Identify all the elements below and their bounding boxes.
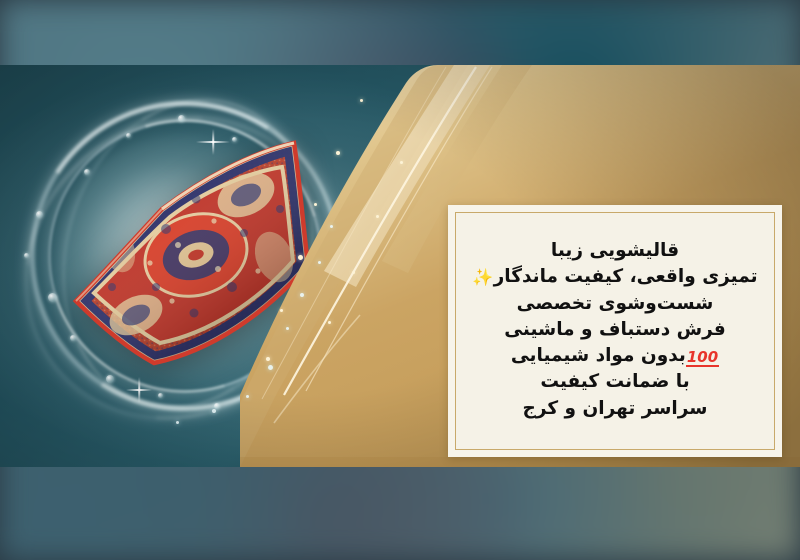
advertisement-banner: قالیشویی زیبا تمیزی واقعی، کیفیت ماندگار…: [0, 0, 800, 560]
water-droplet: [214, 403, 220, 409]
gold-speck: [314, 203, 317, 206]
water-droplet: [106, 375, 114, 383]
hundred-points-emoji: 100: [686, 350, 719, 367]
ad-line-guarantee-text: با ضمانت کیفیت: [540, 371, 689, 392]
gold-speck: [336, 151, 340, 155]
ad-line-headline: قالیشویی زیبا: [551, 238, 679, 264]
main-card: قالیشویی زیبا تمیزی واقعی، کیفیت ماندگار…: [0, 65, 800, 467]
gold-speck: [298, 255, 303, 260]
ad-line-chemicals: 100بدون مواد شیمیایی: [511, 343, 719, 369]
water-droplet: [158, 393, 163, 398]
ad-line-chemicals-text: بدون مواد شیمیایی: [511, 345, 686, 366]
gold-speck: [376, 215, 379, 218]
ad-line-tagline-text: تمیزی واقعی، کیفیت ماندگار: [494, 266, 758, 287]
water-droplet: [178, 115, 185, 122]
glitter-speck: [212, 409, 216, 413]
gold-speck: [328, 321, 331, 324]
glitter-speck: [286, 327, 289, 330]
ad-line-service: شست‌وشوی تخصصی: [517, 291, 714, 317]
ad-line-coverage: سراسر تهران و کرج: [523, 396, 708, 422]
gold-speck: [352, 271, 355, 274]
glitter-speck: [246, 395, 249, 398]
glitter-speck: [318, 261, 321, 264]
advertisement-text-box: قالیشویی زیبا تمیزی واقعی، کیفیت ماندگار…: [448, 205, 782, 457]
ad-line-guarantee: با ضمانت کیفیت: [540, 369, 689, 395]
sparkles-emoji: ✨: [472, 268, 493, 288]
glitter-speck: [300, 293, 304, 297]
gold-speck: [280, 309, 283, 312]
gold-speck: [360, 99, 363, 102]
ad-line-tagline: تمیزی واقعی، کیفیت ماندگار✨: [472, 264, 757, 290]
ad-line-headline-text: قالیشویی زیبا: [551, 240, 679, 261]
gold-speck: [266, 357, 270, 361]
ad-line-service-text: شست‌وشوی تخصصی: [517, 293, 714, 314]
gold-speck: [400, 161, 403, 164]
glitter-speck: [330, 225, 333, 228]
ad-line-types: فرش دستباف و ماشینی: [504, 317, 726, 343]
glitter-speck: [268, 365, 273, 370]
sparkle-star: [126, 389, 152, 391]
advertisement-text-box-inner: قالیشویی زیبا تمیزی واقعی، کیفیت ماندگار…: [455, 212, 775, 450]
glitter-speck: [176, 421, 179, 424]
ad-line-types-text: فرش دستباف و ماشینی: [504, 319, 726, 340]
water-droplet: [24, 253, 29, 258]
ad-line-coverage-text: سراسر تهران و کرج: [523, 398, 708, 419]
